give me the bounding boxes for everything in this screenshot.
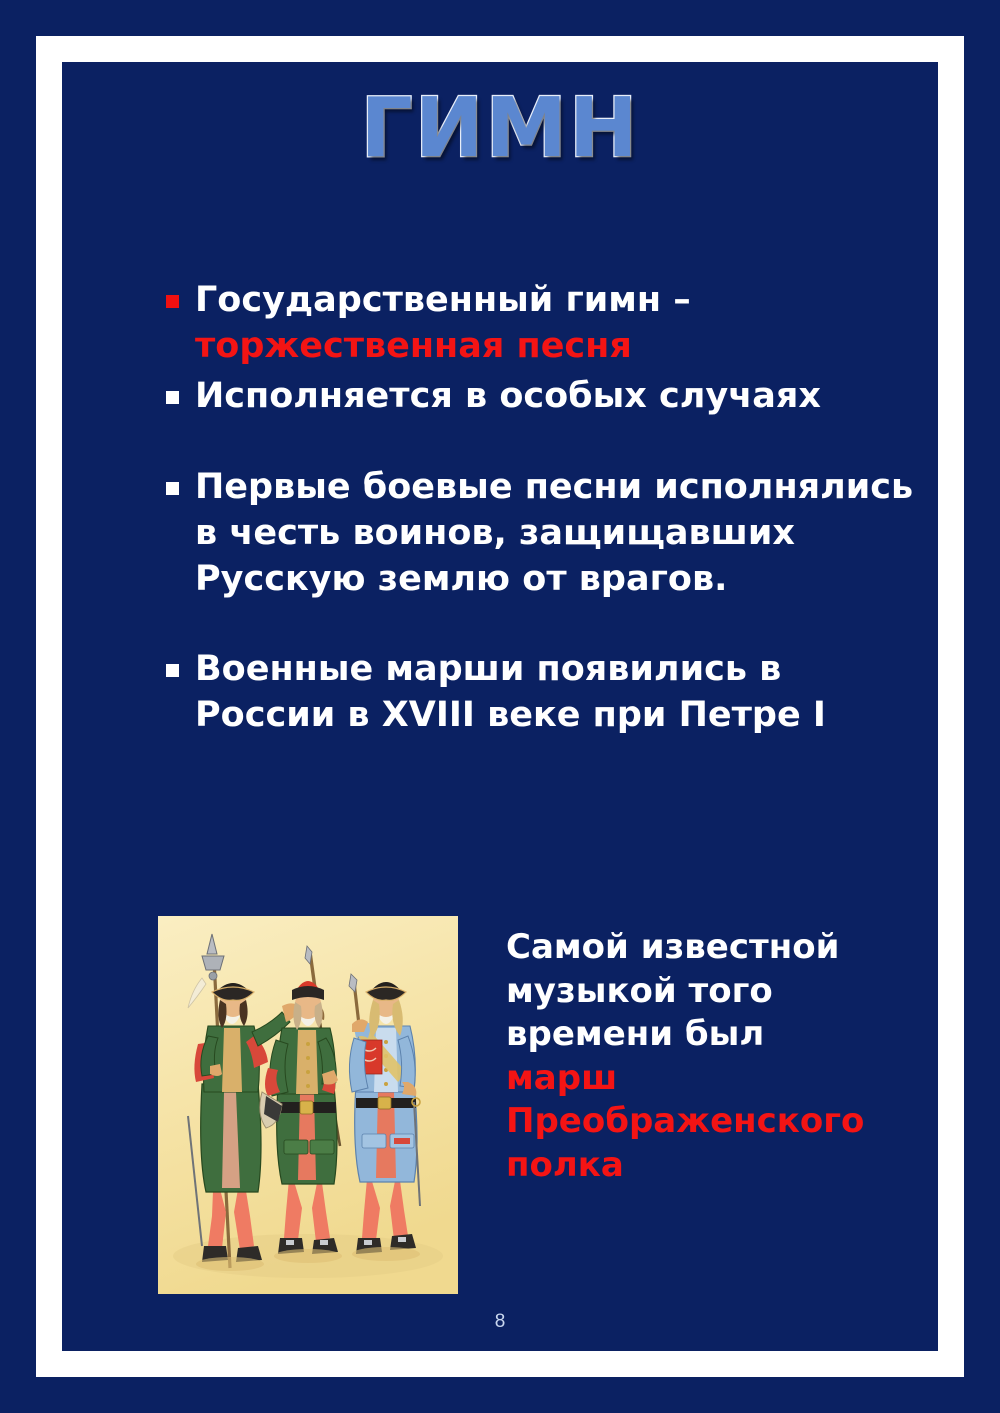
caption-red: марш Преображенского полка [506, 1058, 864, 1185]
soldiers-illustration [158, 916, 458, 1294]
soldiers-illustration-image [158, 916, 458, 1294]
page-number: 8 [62, 1311, 938, 1333]
list-item: Исполняется в особых случаях [166, 373, 926, 419]
bullet-item-label: Государственный гимн – торжественная пес… [195, 277, 926, 369]
bullet-text-red: торжественная песня [195, 326, 632, 366]
illustration-caption: Самой известной музыкой того времени был… [506, 916, 878, 1187]
bullet-square-icon [166, 295, 179, 308]
list-spacer [166, 424, 926, 464]
bullet-square-icon [166, 482, 179, 495]
list-item: Государственный гимн – торжественная пес… [166, 277, 926, 369]
slide-content: ГИМН Государственный гимн – торжественна… [62, 62, 938, 1351]
presentation-slide: ГИМН Государственный гимн – торжественна… [0, 0, 1000, 1413]
bullet-item-label: Военные марши появились в России в XVIII… [195, 646, 926, 738]
list-item: Первые боевые песни исполнялись в честь … [166, 464, 926, 603]
bullet-item-label: Исполняется в особых случаях [195, 373, 926, 419]
illustration-and-caption: Самой известной музыкой того времени был… [158, 916, 878, 1294]
bullet-list: Государственный гимн – торжественная пес… [166, 277, 926, 743]
page-title: ГИМН [62, 88, 938, 170]
caption-white: Самой известной музыкой того времени был [506, 927, 839, 1054]
bullet-square-icon [166, 664, 179, 677]
list-spacer [166, 606, 926, 646]
bullet-square-icon [166, 391, 179, 404]
bullet-item-label: Первые боевые песни исполнялись в честь … [195, 464, 926, 603]
bullet-text-white: Государственный гимн – [195, 280, 691, 320]
list-item: Военные марши появились в России в XVIII… [166, 646, 926, 738]
